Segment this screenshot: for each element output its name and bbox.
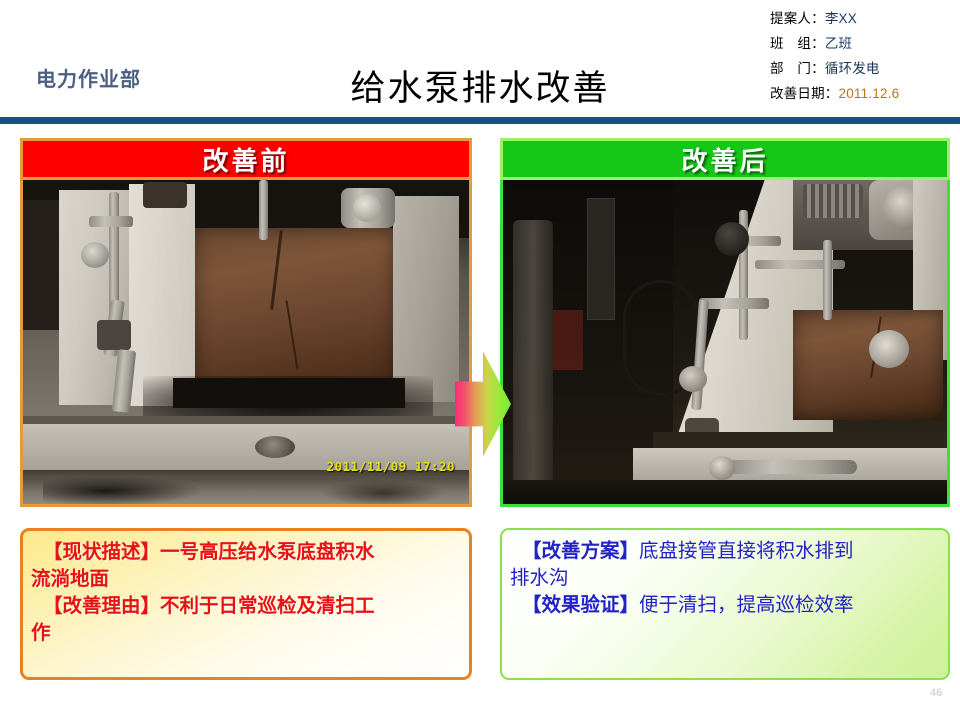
scene-discharge-pipe [727,460,857,474]
scene-flange-round-right [353,194,381,222]
photo-before: 2011/11/09 17:20 [20,180,472,507]
scene-water-stain-2 [323,480,443,506]
after-line-3: 【效果验证】便于清扫，提高巡检效率 [510,591,938,618]
scene-drain-hole [255,436,295,458]
scene-insulated-pipe [513,220,553,507]
after-line-1: 【改善方案】底盘接管直接将积水排到 [510,537,938,564]
after-tag-verification: 【效果验证】 [522,593,639,616]
before-line-2: 流淌地面 [31,565,459,592]
scene-valve-wheel-upper [715,222,749,256]
scene-discharge-flange [709,456,735,480]
scene-rusty-casing [195,228,395,396]
scene-red-object [553,310,583,370]
scene-pipe-horizontal-left [89,216,133,227]
textbox-after: 【改善方案】底盘接管直接将积水排到 排水沟 【效果验证】便于清扫，提高巡检效率 [500,528,950,680]
scene-water-stain [43,476,203,506]
arrow-shape [455,348,511,460]
scene-plinth-edge [23,416,469,424]
before-tag-current-state: 【现状描述】 [43,540,160,563]
before-text-reason: 不利于日常巡检及清扫工 [160,594,375,617]
before-line-1: 【现状描述】一号高压给水泵底盘积水 [31,538,459,565]
before-line-3: 【改善理由】不利于日常巡检及清扫工 [31,592,459,619]
meta-label-team: 班 组： [770,36,825,51]
photo-after [500,180,950,507]
band-label-after: 改善后 [500,138,950,180]
header-divider [0,117,960,124]
scene-round-flange-after [869,330,909,368]
photo-before-scene [23,180,469,504]
before-tag-reason: 【改善理由】 [43,594,160,617]
after-text-plan: 底盘接管直接将积水排到 [639,539,854,562]
scene-gauge-left [81,242,109,268]
scene-frame-left [587,198,615,320]
scene-dark-gap [173,378,405,408]
after-tag-plan: 【改善方案】 [522,539,639,562]
scene-rusty-casing-after [793,310,943,420]
photo-timestamp: 2011/11/09 17:20 [327,459,455,474]
scene-drain-pipe-elbow [699,298,769,309]
scene-floor-after [503,480,949,507]
page-number: 46 [930,687,942,699]
before-text-current-state: 一号高压给水泵底盘积水 [160,540,375,563]
scene-box-top [143,182,187,208]
panel-after: 改善后 [500,138,950,507]
scene-concrete-pillar-mid [129,184,195,406]
meta-value-proposer: 李XX [825,11,857,26]
after-text-verification: 便于清扫，提高巡检效率 [639,593,854,616]
scene-concrete-pillar-right [393,196,459,402]
meta-label-proposer: 提案人： [770,11,825,26]
slide-canvas: 提案人：李XX 班 组：乙班 部 门：循环发电 改善日期：2011.12.6 电… [0,0,960,720]
meta-row-proposer: 提案人：李XX [770,6,960,31]
band-label-before: 改善前 [20,138,472,180]
improvement-arrow-icon [455,348,511,460]
scene-center-rod [259,180,268,240]
textbox-before: 【现状描述】一号高压给水泵底盘积水 流淌地面 【改善理由】不利于日常巡检及清扫工… [20,528,472,680]
scene-drain-flange [679,366,707,392]
before-line-4: 作 [31,619,459,646]
meta-value-team: 乙班 [825,36,852,51]
scene-grille [803,184,863,218]
meta-row-team: 班 组：乙班 [770,31,960,56]
after-line-2: 排水沟 [510,564,938,591]
page-title: 给水泵排水改善 [0,60,960,111]
scene-valve-handle-left [97,320,131,350]
photo-after-scene [503,180,947,504]
panel-before: 改善前 [20,138,472,507]
scene-upper-tube-2 [823,240,832,320]
